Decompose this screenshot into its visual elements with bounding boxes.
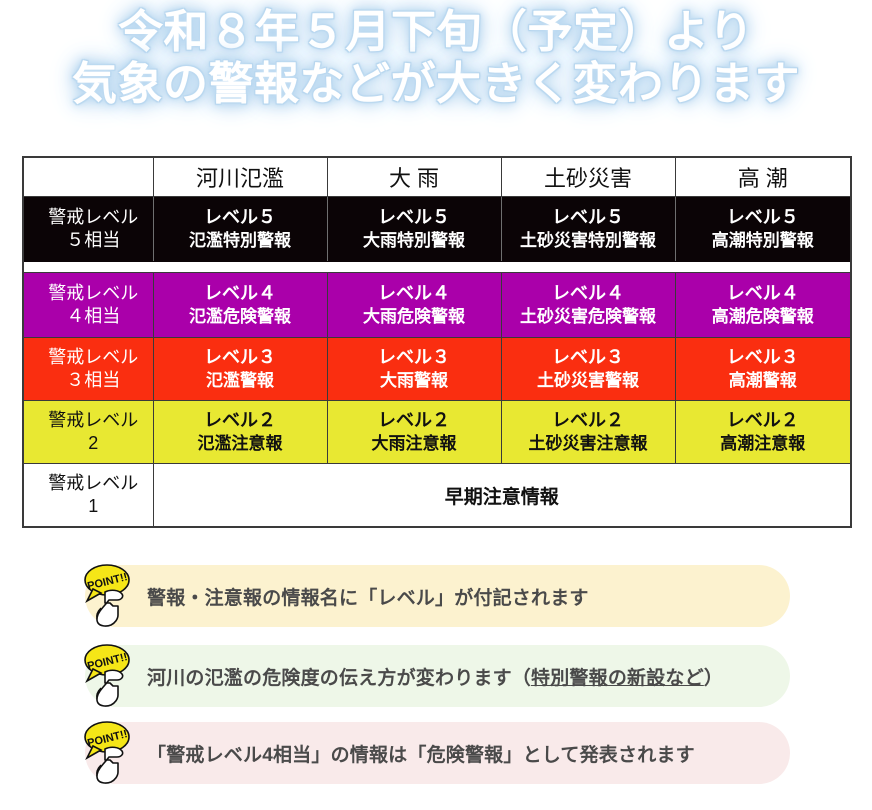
point-item-2: POINT!! 河川の氾濫の危険度の伝え方が変わります（特別警報の新設など） [85,645,790,707]
cell-level1-early-warning: 早期注意情報 [153,464,851,528]
cell-level4-storm-surge: レベル４ 高潮危険警報 [675,273,851,338]
cell-level2-heavy-rain-name: 大雨注意報 [328,433,501,455]
table-row-level-5: 警戒レベル ５相当 レベル５ 氾濫特別警報 レベル５ 大雨特別警報 レベル５ 土… [23,197,851,262]
cell-level3-heavy-rain-name: 大雨警報 [328,370,501,392]
point-text-1: 警報・注意報の情報名に「レベル」が付記されます [147,583,589,610]
table-row-level-1: 警戒レベル 1 早期注意情報 [23,464,851,528]
warning-level-table: 河川氾濫 大 雨 土砂災害 高 潮 警戒レベル ５相当 レベル５ 氾濫特別警報 … [22,156,850,528]
cell-level4-heavy-rain-name: 大雨危険警報 [328,306,501,328]
cell-level5-storm-surge-name: 高潮特別警報 [676,230,851,252]
header-cell-storm-surge: 高 潮 [675,157,851,197]
point-text-2-underlined: 特別警報の新設など [531,668,704,689]
cell-level5-heavy-rain-name: 大雨特別警報 [328,230,501,252]
level-label-2-line2: 2 [34,432,153,455]
cell-level2-storm-surge: レベル２ 高潮注意報 [675,401,851,464]
cell-level5-landslide: レベル５ 土砂災害特別警報 [501,197,675,262]
cell-level5-storm-surge: レベル５ 高潮特別警報 [675,197,851,262]
page-title: 令和８年５月下旬（予定）より 気象の警報などが大きく変わります [0,0,872,107]
cell-level2-river-flood-level: レベル２ [204,410,276,430]
cell-level3-river-flood-level: レベル３ [204,347,276,367]
cell-level3-landslide-name: 土砂災害警報 [502,370,675,392]
level-label-4-line1: 警戒レベル [48,283,138,303]
cell-level5-heavy-rain-level: レベル５ [378,207,450,227]
cell-level2-landslide-name: 土砂災害注意報 [502,433,675,455]
cell-level3-storm-surge: レベル３ 高潮警報 [675,338,851,401]
level-label-3-line2: ３相当 [34,369,153,392]
cell-level5-landslide-level: レベル５ [552,207,624,227]
cell-level3-landslide-level: レベル３ [552,347,624,367]
header-cell-river-flood: 河川氾濫 [153,157,327,197]
point-text-3: 「警戒レベル4相当」の情報は「危険警報」として発表されます [147,740,695,767]
cell-level5-heavy-rain: レベル５ 大雨特別警報 [327,197,501,262]
title-line-2: 気象の警報などが大きく変わります [0,60,872,108]
cell-level2-landslide-level: レベル２ [552,410,624,430]
table-spacer-cell [23,262,851,273]
point-text-2-post: ） [704,668,723,689]
point-badge-icon-1: POINT!! [77,559,151,631]
cell-level3-heavy-rain-level: レベル３ [378,347,450,367]
cell-level2-storm-surge-name: 高潮注意報 [676,433,851,455]
cell-level5-river-flood-name: 氾濫特別警報 [154,230,327,252]
point-item-1: POINT!! 警報・注意報の情報名に「レベル」が付記されます [85,565,790,627]
cell-level2-river-flood-name: 氾濫注意報 [154,433,327,455]
level-label-1: 警戒レベル 1 [23,464,153,528]
cell-level4-river-flood-level: レベル４ [204,283,276,303]
point-text-2: 河川の氾濫の危険度の伝え方が変わります（特別警報の新設など） [147,663,723,690]
level-label-1-line2: 1 [34,495,153,518]
cell-level5-river-flood: レベル５ 氾濫特別警報 [153,197,327,262]
cell-level5-river-flood-level: レベル５ [204,207,276,227]
point-item-3: POINT!! 「警戒レベル4相当」の情報は「危険警報」として発表されます [85,722,790,784]
cell-level3-storm-surge-name: 高潮警報 [676,370,851,392]
cell-level4-landslide: レベル４ 土砂災害危険警報 [501,273,675,338]
level-label-5-line1: 警戒レベル [48,207,138,227]
cell-level2-heavy-rain: レベル２ 大雨注意報 [327,401,501,464]
level-label-2: 警戒レベル 2 [23,401,153,464]
title-line-1: 令和８年５月下旬（予定）より [0,8,872,56]
point-text-2-pre: 河川の氾濫の危険度の伝え方が変わります（ [147,668,531,689]
cell-level3-river-flood: レベル３ 氾濫警報 [153,338,327,401]
cell-level2-river-flood: レベル２ 氾濫注意報 [153,401,327,464]
cell-level2-storm-surge-level: レベル２ [727,410,799,430]
level-label-3-line1: 警戒レベル [48,347,138,367]
level-label-4-line2: ４相当 [34,305,153,328]
cell-level5-landslide-name: 土砂災害特別警報 [502,230,675,252]
level-label-2-line1: 警戒レベル [48,410,138,430]
level-label-5-line2: ５相当 [34,229,153,252]
cell-level3-heavy-rain: レベル３ 大雨警報 [327,338,501,401]
header-cell-landslide: 土砂災害 [501,157,675,197]
point-badge-icon-2: POINT!! [77,639,151,711]
cell-level3-landslide: レベル３ 土砂災害警報 [501,338,675,401]
table-row-level-2: 警戒レベル 2 レベル２ 氾濫注意報 レベル２ 大雨注意報 レベル２ 土砂災害注… [23,401,851,464]
level-label-5: 警戒レベル ５相当 [23,197,153,262]
cell-level4-river-flood: レベル４ 氾濫危険警報 [153,273,327,338]
cell-level4-storm-surge-level: レベル４ [727,283,799,303]
table-spacer-row [23,262,851,273]
svg-text:POINT!!: POINT!! [86,571,129,593]
table-header-row: 河川氾濫 大 雨 土砂災害 高 潮 [23,157,851,197]
svg-text:POINT!!: POINT!! [86,728,129,750]
point-text-1-pre: 警報・注意報の情報名に「レベル」が付記されます [147,588,589,609]
cell-level4-storm-surge-name: 高潮危険警報 [676,306,851,328]
cell-level4-heavy-rain-level: レベル４ [378,283,450,303]
level-label-1-line1: 警戒レベル [48,473,138,493]
point-badge-icon-3: POINT!! [77,716,151,788]
cell-level4-landslide-level: レベル４ [552,283,624,303]
header-cell-heavy-rain: 大 雨 [327,157,501,197]
level-label-3: 警戒レベル ３相当 [23,338,153,401]
cell-level2-heavy-rain-level: レベル２ [378,410,450,430]
cell-level5-storm-surge-level: レベル５ [727,207,799,227]
cell-level4-landslide-name: 土砂災害危険警報 [502,306,675,328]
header-cell-blank [23,157,153,197]
table-row-level-4: 警戒レベル ４相当 レベル４ 氾濫危険警報 レベル４ 大雨危険警報 レベル４ 土… [23,273,851,338]
cell-level4-river-flood-name: 氾濫危険警報 [154,306,327,328]
svg-text:POINT!!: POINT!! [86,651,129,673]
point-text-3-pre: 「警戒レベル4相当」の情報は「危険警報」として発表されます [147,745,695,766]
cell-level2-landslide: レベル２ 土砂災害注意報 [501,401,675,464]
cell-level3-river-flood-name: 氾濫警報 [154,370,327,392]
cell-level3-storm-surge-level: レベル３ [727,347,799,367]
cell-level4-heavy-rain: レベル４ 大雨危険警報 [327,273,501,338]
table-row-level-3: 警戒レベル ３相当 レベル３ 氾濫警報 レベル３ 大雨警報 レベル３ 土砂災害警… [23,338,851,401]
level-label-4: 警戒レベル ４相当 [23,273,153,338]
